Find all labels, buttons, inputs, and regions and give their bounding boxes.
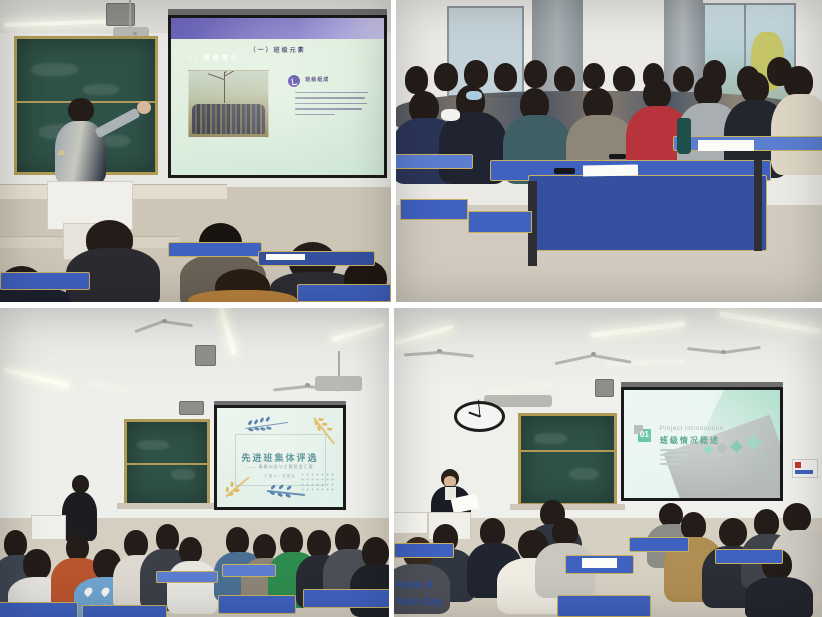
slide-b-byline: 汇报人：班委会: [217, 474, 343, 479]
classroom-scene-presenter: 一、班级简介 （一）班级元素 班级组成: [0, 0, 391, 302]
mobile-phone: [609, 154, 626, 159]
slide-a-subtitle: （一）班级元素: [171, 45, 384, 54]
leaf-frond-icon: [244, 415, 288, 435]
mobile-phone: [554, 168, 575, 175]
wall-speaker-icon: [195, 345, 216, 366]
chalk-rail: [518, 450, 616, 452]
student-desk: [82, 605, 168, 617]
photo-panel-bottom-left: 先进班集体评选 —— 青春向党与主题班会汇报 汇报人：班委会: [0, 308, 389, 617]
hoodie-text: Have A: [396, 580, 433, 591]
slide-title-page: 先进班集体评选 —— 青春向党与主题班会汇报 汇报人：班委会: [217, 408, 343, 507]
projector-rod: [129, 0, 131, 27]
slide-c-chinese-title: 班级情况概述: [660, 435, 720, 446]
ceiling-fan: [403, 342, 476, 361]
classroom-scene-audience: [396, 0, 822, 302]
presenter-head: [68, 98, 93, 122]
hoodie-text-second-line: Nice Day: [396, 597, 442, 608]
student-desk: [156, 571, 218, 583]
wall-panel: [792, 459, 818, 478]
handout-paper: [582, 558, 616, 567]
slide-c-number: 01: [640, 430, 649, 439]
front-chair: [468, 211, 532, 232]
slide-c-number-box: 01: [638, 429, 651, 442]
student-desk: [303, 589, 389, 608]
photo-panel-top-right: [396, 0, 822, 302]
slide-class-introduction: 一、班级简介 （一）班级元素 班级组成: [171, 18, 384, 175]
slide-a-group-photo: [188, 70, 269, 138]
slide-b-title: 先进班集体评选: [217, 451, 343, 464]
desk-leg: [754, 160, 763, 251]
face-mask: [441, 109, 460, 121]
board-tray: [117, 503, 218, 509]
ceiling-fan: [132, 311, 194, 330]
classroom-scene-wide-left: 先进班集体评选 —— 青春向党与主题班会汇报 汇报人：班委会: [0, 308, 389, 617]
projection-screen: 01 Project Introduction 班级情况概述: [621, 387, 784, 501]
ceiling-fan: [685, 342, 762, 361]
water-bottle: [677, 118, 691, 154]
front-chair: [400, 199, 468, 220]
slide-c-bullet-lines: [660, 449, 688, 467]
photo-panel-top-left: 一、班级简介 （一）班级元素 班级组成: [0, 0, 391, 302]
slide-project-introduction: 01 Project Introduction 班级情况概述: [624, 390, 781, 498]
student-desk: [394, 543, 454, 558]
wall-speaker-icon: [595, 379, 614, 396]
handout-paper: [698, 140, 753, 150]
face-mask: [466, 91, 481, 101]
slide-a-section-heading: 班级组成: [305, 76, 329, 83]
blackboard: [518, 413, 616, 506]
student-desk: [396, 154, 473, 169]
projector: [315, 376, 362, 391]
student-desk: [629, 537, 689, 552]
slide-b-subtitle: —— 青春向党与主题班会汇报: [217, 464, 343, 470]
handout-paper: [583, 164, 639, 176]
student-desk: [0, 272, 90, 290]
student-desk: [218, 595, 296, 614]
chalk-rail: [124, 463, 210, 465]
photo-panel-bottom-right: 01 Project Introduction 班级情况概述: [394, 308, 822, 617]
slide-a-bullet-icon: [288, 75, 300, 87]
side-table: [394, 512, 428, 534]
wall-clock: [454, 401, 505, 432]
handout-paper: [266, 254, 305, 261]
presenter-head: [72, 475, 89, 494]
photo-collage: 一、班级简介 （一）班级元素 班级组成: [0, 0, 822, 617]
projector-rod: [338, 351, 340, 376]
ceiling-fan: [552, 345, 633, 364]
projection-screen: 一、班级简介 （一）班级元素 班级组成: [168, 15, 387, 178]
slide-a-body-text: [295, 92, 372, 120]
student-desk: [168, 242, 262, 257]
fan-hub: [133, 32, 137, 35]
slide-a-header-text: 一、班级简介: [186, 53, 240, 62]
student-desk: [222, 564, 276, 576]
slide-a-header-bar: [171, 18, 384, 38]
student-desk: [715, 549, 783, 564]
jacket-number: 20: [58, 151, 65, 157]
student-desk: [557, 595, 651, 617]
slide-c-english-title: Project Introduction: [660, 426, 724, 432]
classroom-scene-wide-right: 01 Project Introduction 班级情况概述: [394, 308, 822, 617]
wall-speaker-icon: [179, 401, 204, 415]
student-desk-front-face: [528, 175, 767, 251]
student-desk: [297, 284, 391, 302]
board-tray: [510, 504, 626, 510]
projection-screen: 先进班集体评选 —— 青春向党与主题班会汇报 汇报人：班委会: [214, 405, 346, 510]
student-desk: [0, 602, 78, 617]
lectern: [31, 515, 66, 540]
